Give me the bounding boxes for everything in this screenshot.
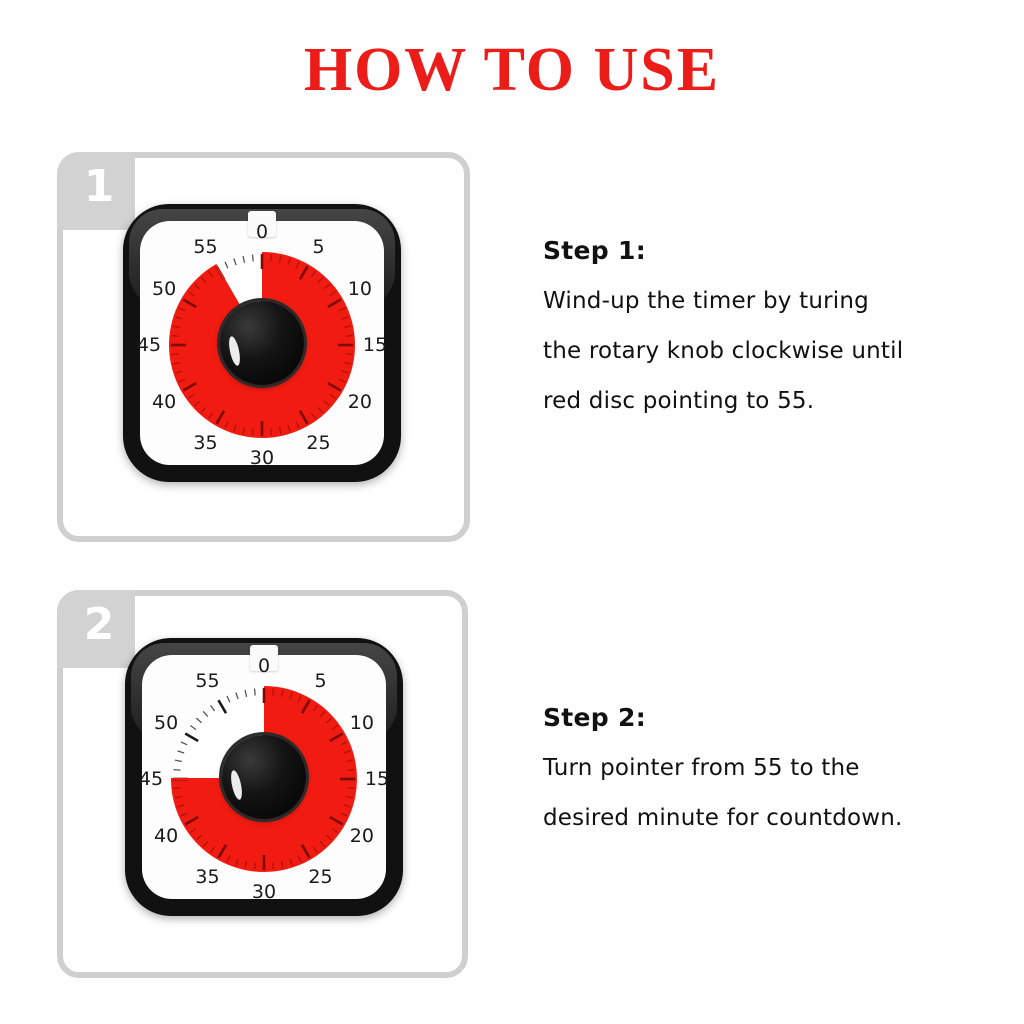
page-title: HOW TO USE [0, 38, 1024, 103]
dial-tick-minor [348, 769, 355, 770]
dial-label-30: 30 [252, 881, 276, 903]
dial-label-0: 0 [258, 655, 270, 677]
dial-tick-minor [174, 769, 181, 770]
dial-label-45: 45 [137, 334, 161, 356]
timer-device-2: 0510152025303540455055 [125, 638, 403, 916]
dial-label-40: 40 [152, 391, 176, 413]
dial-tick-minor [252, 255, 253, 262]
dial-tick-minor [271, 255, 272, 262]
dial-tick-minor [252, 429, 253, 436]
step-line: Wind-up the timer by turing [543, 290, 1013, 313]
dial-label-25: 25 [308, 866, 332, 888]
dial-label-0: 0 [256, 221, 268, 243]
dial-tick-minor [174, 788, 181, 789]
dial-tick-minor [346, 335, 353, 336]
dial-label-20: 20 [350, 825, 374, 847]
timer-face-2: 0510152025303540455055 [142, 655, 386, 899]
dial-label-5: 5 [314, 670, 326, 692]
dial-label-10: 10 [350, 712, 374, 734]
dial-label-25: 25 [306, 432, 330, 454]
timer-face-1: 0510152025303540455055 [140, 221, 384, 465]
step-heading-1: Step 1: [543, 236, 1013, 265]
dial-tick-minor [254, 863, 255, 870]
dial-tick-minor [348, 788, 355, 789]
dial-tick-minor [254, 689, 255, 696]
dial-tick-minor [172, 354, 179, 355]
step-badge-2: 2 [57, 590, 135, 668]
step-text-1: Step 1: Wind-up the timer by turing the … [543, 236, 1013, 440]
dial-label-5: 5 [312, 236, 324, 258]
knob-gloss [229, 770, 244, 801]
dial-label-55: 55 [193, 236, 217, 258]
step-line: the rotary knob clockwise until [543, 340, 1013, 363]
step-line: Turn pointer from 55 to the [543, 757, 1023, 780]
dial-label-55: 55 [195, 670, 219, 692]
dial-label-20: 20 [348, 391, 372, 413]
timer-device-1: 0510152025303540455055 [123, 204, 401, 482]
step-card-1: 1 0510152025303540455055 [57, 152, 470, 542]
rotary-knob-1[interactable] [220, 301, 304, 385]
dial-tick-minor [346, 354, 353, 355]
knob-gloss [227, 336, 242, 367]
dial-label-50: 50 [154, 712, 178, 734]
dial-tick-minor [172, 335, 179, 336]
rotary-knob-2[interactable] [222, 735, 306, 819]
dial-tick-minor [273, 689, 274, 696]
dial-tick-minor [273, 863, 274, 870]
dial-label-35: 35 [195, 866, 219, 888]
dial-label-15: 15 [363, 334, 387, 356]
dial-label-30: 30 [250, 447, 274, 469]
step-line: desired minute for countdown. [543, 807, 1023, 830]
dial-label-40: 40 [154, 825, 178, 847]
step-heading-2: Step 2: [543, 703, 1023, 732]
dial-label-15: 15 [365, 768, 389, 790]
dial-label-50: 50 [152, 278, 176, 300]
dial-label-35: 35 [193, 432, 217, 454]
step-badge-1: 1 [57, 152, 135, 230]
dial-label-10: 10 [348, 278, 372, 300]
dial-tick-minor [271, 429, 272, 436]
step-text-2: Step 2: Turn pointer from 55 to the desi… [543, 703, 1023, 857]
step-line: red disc pointing to 55. [543, 390, 1013, 413]
step-card-2: 2 0510152025303540455055 [57, 590, 468, 978]
dial-label-45: 45 [139, 768, 163, 790]
